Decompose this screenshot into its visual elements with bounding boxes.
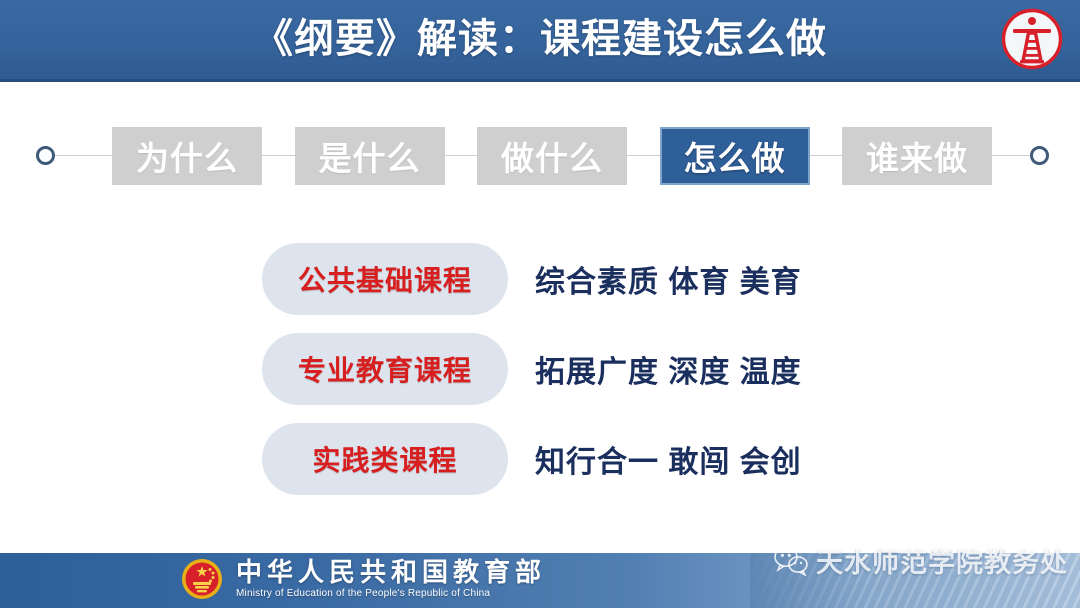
category-detail: 综合素质 体育 美育 — [535, 257, 802, 301]
wechat-icon — [774, 546, 808, 576]
category-pill-professional-education: 专业教育课程 — [262, 333, 508, 405]
slide-header: 《纲要》解读：课程建设怎么做 — [0, 0, 1080, 82]
watermark-label: 天水师范学院教务处 — [816, 541, 1068, 580]
nav-tab-list: 为什么 是什么 做什么 怎么做 谁来做 — [112, 125, 992, 187]
nav-tab-how-to-do[interactable]: 怎么做 — [660, 127, 810, 185]
category-label: 公共基础课程 — [298, 259, 472, 299]
list-item: 公共基础课程 综合素质 体育 美育 — [262, 243, 902, 315]
china-national-emblem — [180, 557, 224, 601]
ministry-name-cn: 中华人民共和国教育部 — [236, 559, 546, 586]
timeline-start-dot — [36, 146, 55, 165]
course-category-list: 公共基础课程 综合素质 体育 美育 专业教育课程 拓展广度 深度 温度 实践类课… — [262, 243, 902, 513]
category-detail: 拓展广度 深度 温度 — [535, 347, 802, 391]
ministry-text-block: 中华人民共和国教育部 Ministry of Education of the … — [236, 559, 546, 600]
ministry-name-en: Ministry of Education of the People's Re… — [236, 589, 546, 600]
page-title: 《纲要》解读：课程建设怎么做 — [0, 0, 1080, 78]
timeline-end-dot — [1030, 146, 1049, 165]
list-item: 实践类课程 知行合一 敢闯 会创 — [262, 423, 902, 495]
nav-tab-what-is[interactable]: 是什么 — [295, 127, 445, 185]
wechat-watermark: 天水师范学院教务处 — [774, 541, 1068, 580]
ministry-of-education-brand: 中华人民共和国教育部 Ministry of Education of the … — [180, 557, 546, 601]
category-label: 实践类课程 — [312, 439, 457, 479]
category-label: 专业教育课程 — [298, 349, 472, 389]
category-detail: 知行合一 敢闯 会创 — [535, 437, 802, 481]
category-pill-practical: 实践类课程 — [262, 423, 508, 495]
nav-tab-why[interactable]: 为什么 — [112, 127, 262, 185]
section-timeline-nav: 为什么 是什么 做什么 怎么做 谁来做 — [0, 125, 1080, 187]
tower-emblem-logo — [1000, 7, 1064, 71]
presentation-slide: 《纲要》解读：课程建设怎么做 为什么 是什么 做什么 怎么做 谁来做 — [0, 0, 1080, 608]
list-item: 专业教育课程 拓展广度 深度 温度 — [262, 333, 902, 405]
nav-tab-who-does[interactable]: 谁来做 — [842, 127, 992, 185]
category-pill-public-foundation: 公共基础课程 — [262, 243, 508, 315]
nav-tab-do-what[interactable]: 做什么 — [477, 127, 627, 185]
